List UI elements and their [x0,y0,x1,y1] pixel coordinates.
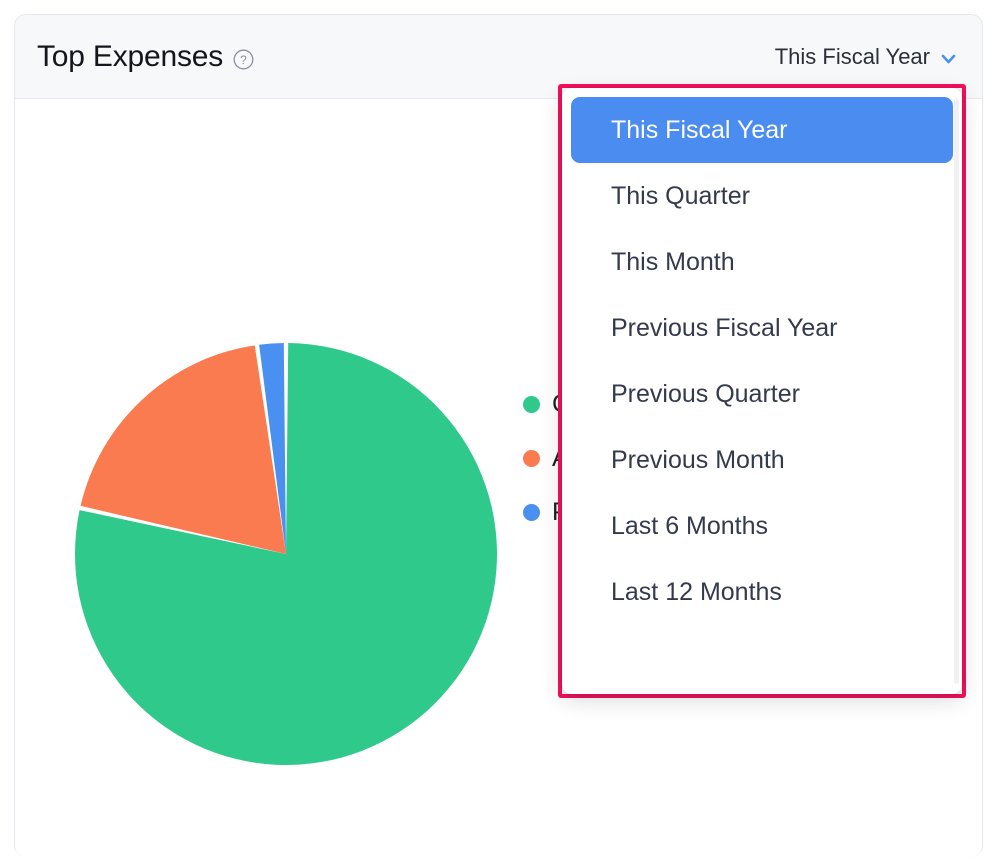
period-selector-trigger[interactable]: This Fiscal Year [773,40,960,74]
legend-color-swatch [523,504,540,521]
legend-color-swatch [523,396,540,413]
dropdown-option[interactable]: Last 6 Months [571,493,953,559]
dropdown-option[interactable]: This Month [571,229,953,295]
dropdown-option-list: This Fiscal YearThis QuarterThis MonthPr… [571,97,953,685]
dropdown-option[interactable]: Previous Quarter [571,361,953,427]
dropdown-option[interactable]: Previous Fiscal Year [571,295,953,361]
pie-svg [73,341,499,767]
chevron-down-icon [939,49,958,68]
period-dropdown-menu[interactable]: This Fiscal YearThis QuarterThis MonthPr… [562,88,962,694]
legend-color-swatch [523,450,540,467]
card-header: Top Expenses ? This Fiscal Year [15,15,982,99]
period-selector-value: This Fiscal Year [775,44,930,70]
dropdown-scrollbar[interactable] [954,98,959,684]
dropdown-option[interactable]: Last 12 Months [571,559,953,625]
dropdown-option[interactable]: This Fiscal Year [571,97,953,163]
help-circle-icon[interactable]: ? [233,49,254,70]
dropdown-option[interactable]: Previous Month [571,427,953,493]
page-title: Top Expenses [37,42,223,72]
title-group: Top Expenses ? [37,42,254,72]
pie-chart-graphic [73,341,499,767]
dropdown-option[interactable]: This Quarter [571,163,953,229]
svg-text:?: ? [240,53,247,67]
